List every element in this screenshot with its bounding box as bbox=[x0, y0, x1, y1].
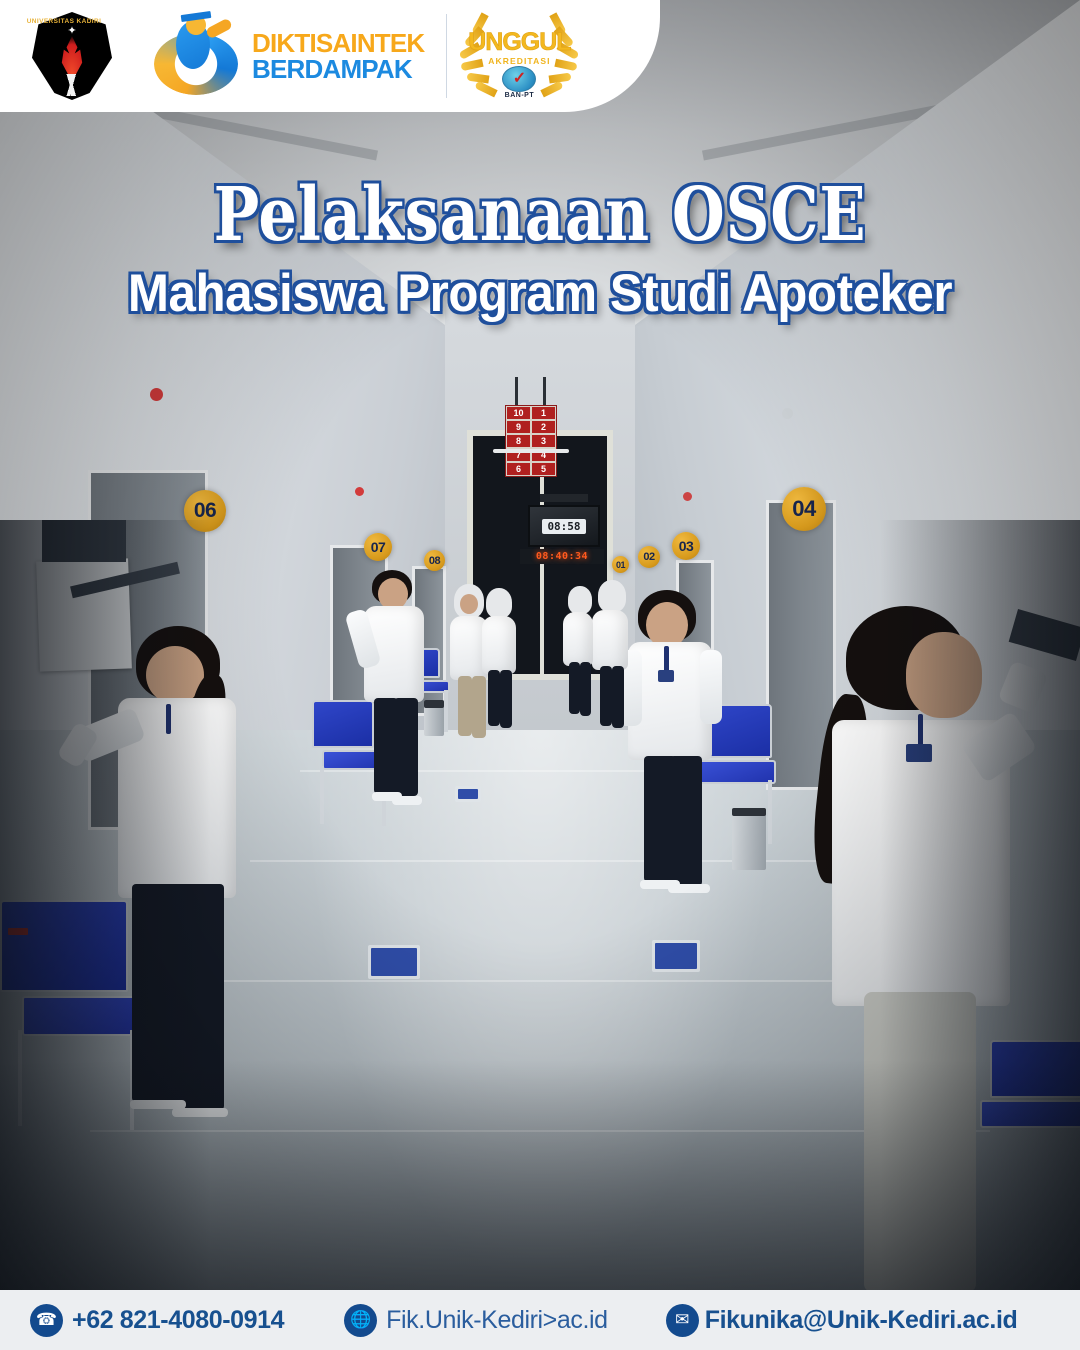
contact-email[interactable]: ✉ Fikunika@Unik-Kediri.ac.id bbox=[666, 1304, 1018, 1337]
globe-icon: 🌐 bbox=[344, 1304, 377, 1337]
sheaf-icon bbox=[52, 74, 92, 96]
banpt-label: BAN-PT bbox=[455, 92, 583, 99]
page-title: Pelaksanaan OSCE bbox=[97, 178, 983, 252]
title-block: Pelaksanaan OSCE Mahasiswa Program Studi… bbox=[0, 178, 1080, 322]
email-address: Fikunika@Unik-Kediri.ac.id bbox=[705, 1306, 1018, 1335]
phone-icon: ☎ bbox=[30, 1304, 63, 1337]
mail-icon: ✉ bbox=[666, 1304, 699, 1337]
dikti-line-1: DIKTISAINTEK bbox=[252, 30, 424, 56]
header-logo-bar: UNIVERSITAS KADIRI ✦ DIKTISAINTEK BERDAM… bbox=[0, 0, 660, 112]
poster-root: 10 1 9 2 8 3 7 4 6 5 08:58 08:40:34 06 0… bbox=[0, 0, 1080, 1350]
page-subtitle: Mahasiswa Program Studi Apoteker bbox=[38, 266, 1042, 322]
akreditasi-unggul-logo: UNGGUL AKREDITASI ✓ BAN-PT bbox=[455, 8, 583, 104]
phone-number: +62 821-4080-0914 bbox=[72, 1306, 284, 1335]
banpt-globe-icon: ✓ bbox=[502, 66, 536, 92]
dikti-line-2: BERDAMPAK bbox=[252, 56, 424, 82]
contact-website[interactable]: 🌐 Fik.Unik-Kediri>ac.id bbox=[344, 1304, 608, 1337]
universitas-kadiri-logo: UNIVERSITAS KADIRI ✦ bbox=[24, 8, 120, 104]
star-icon: ✦ bbox=[67, 26, 76, 37]
diktisaintek-wordmark: DIKTISAINTEK BERDAMPAK bbox=[252, 30, 424, 82]
akreditasi-label: AKREDITASI bbox=[455, 56, 583, 66]
contact-footer: ☎ +62 821-4080-0914 🌐 Fik.Unik-Kediri>ac… bbox=[0, 1290, 1080, 1350]
shield-label: UNIVERSITAS KADIRI bbox=[24, 18, 104, 25]
logo-divider bbox=[446, 14, 447, 98]
website-url: Fik.Unik-Kediri>ac.id bbox=[386, 1306, 608, 1335]
diktisaintek-mark-icon bbox=[150, 13, 242, 99]
contact-phone[interactable]: ☎ +62 821-4080-0914 bbox=[30, 1304, 284, 1337]
diktisaintek-logo: DIKTISAINTEK BERDAMPAK bbox=[150, 13, 424, 99]
unggul-label: UNGGUL bbox=[455, 28, 583, 57]
shadow-bottom bbox=[0, 1060, 1080, 1290]
